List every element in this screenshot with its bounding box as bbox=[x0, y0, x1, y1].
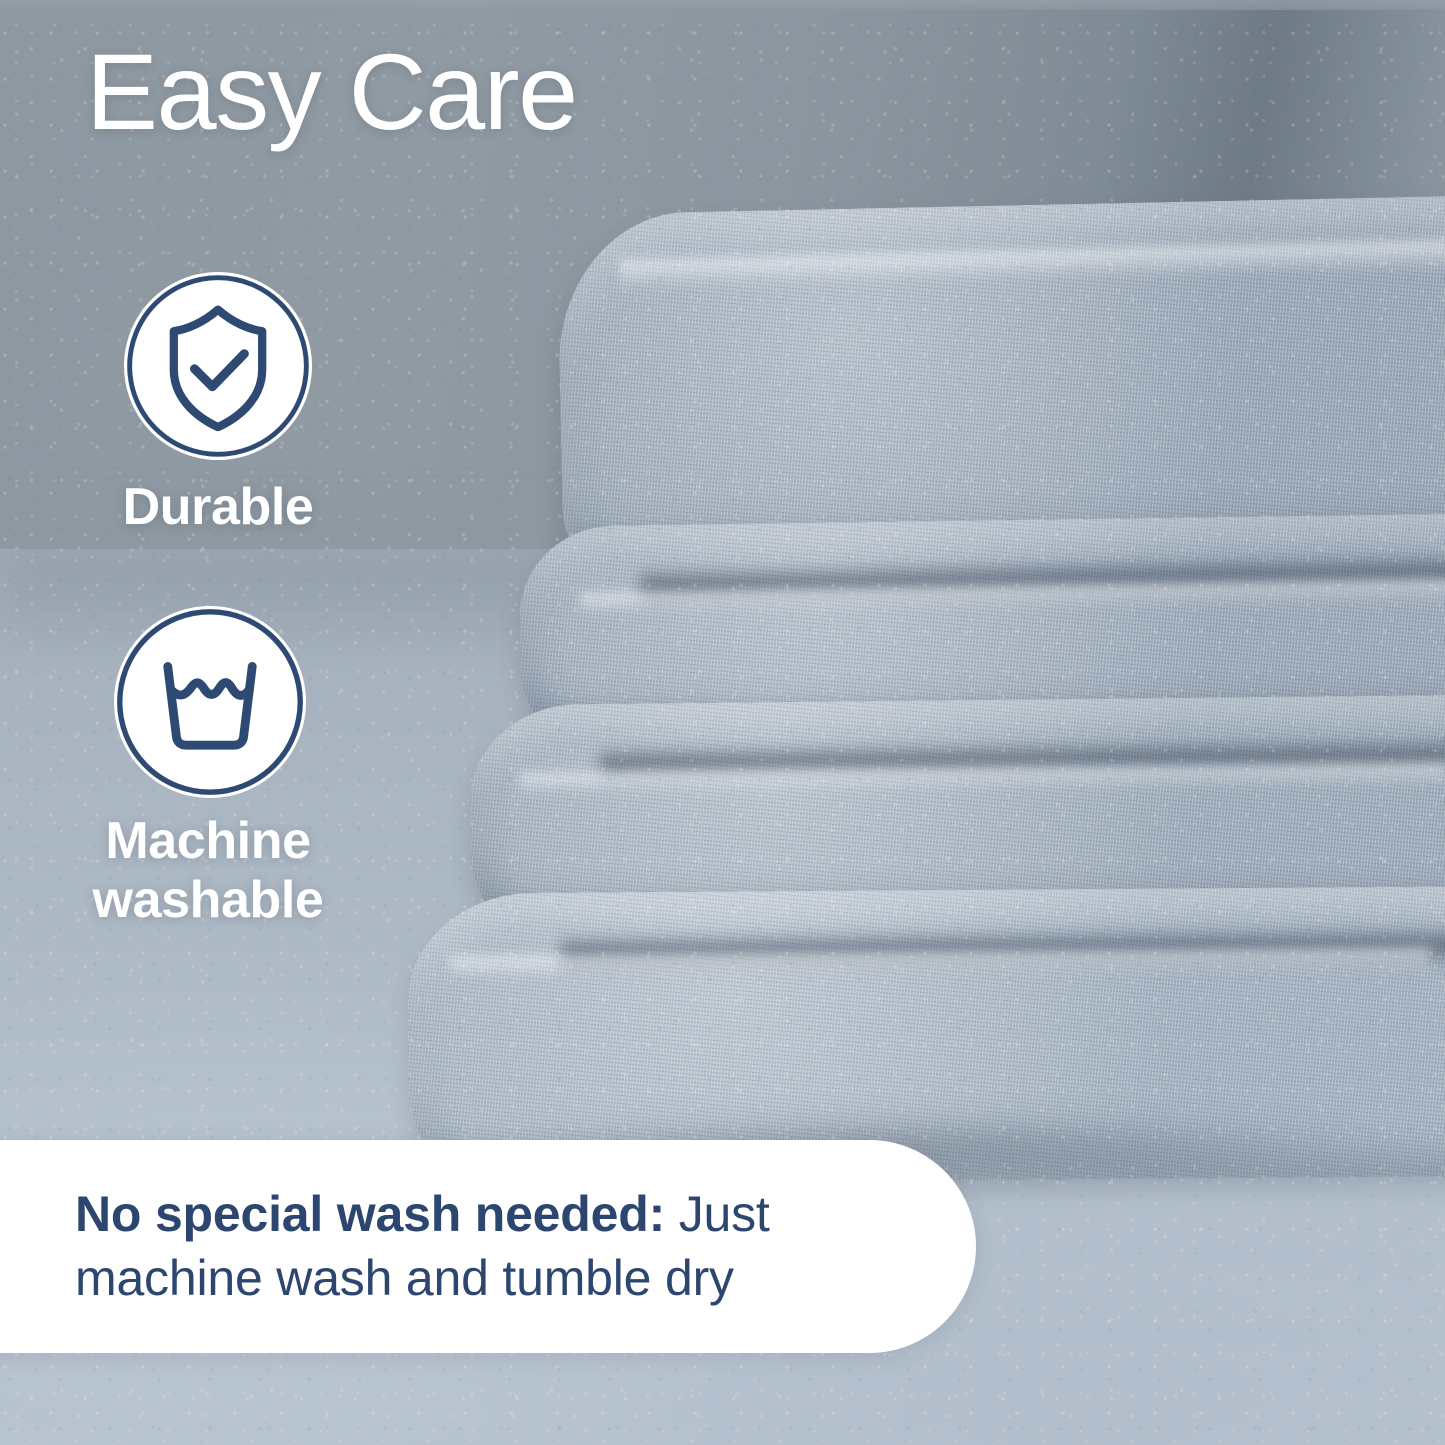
page-title: Easy Care bbox=[86, 34, 577, 151]
feature-machine-washable-label: Machine washable bbox=[6, 812, 410, 931]
product-feature-image: Easy Care Durable Machine washable bbox=[0, 0, 1445, 1445]
caption-lead: No special wash needed: bbox=[75, 1186, 665, 1242]
feature-label-line-2: washable bbox=[6, 871, 410, 930]
caption-banner: No special wash needed: Just machine was… bbox=[0, 1140, 976, 1353]
shield-check-icon bbox=[124, 272, 312, 460]
machine-wash-tub-icon bbox=[114, 606, 306, 798]
feature-durable-label: Durable bbox=[18, 478, 418, 537]
feature-label-line-1: Machine bbox=[6, 812, 410, 871]
caption-text: No special wash needed: Just machine was… bbox=[75, 1182, 895, 1310]
